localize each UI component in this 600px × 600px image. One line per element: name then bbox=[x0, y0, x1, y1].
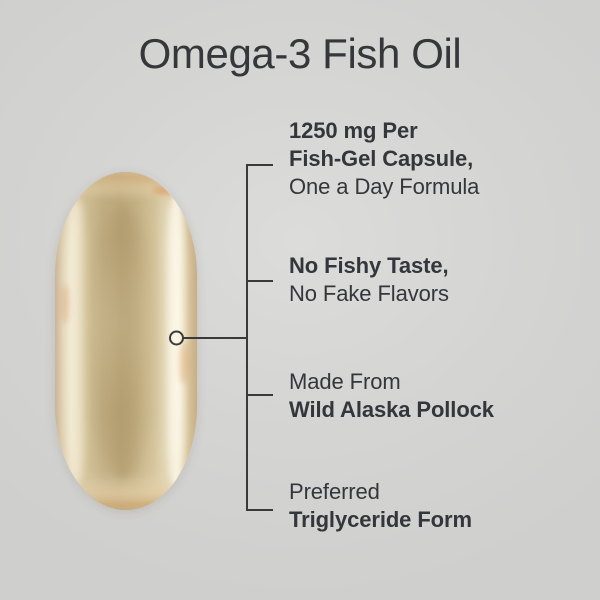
callout-block-taste: No Fishy Taste, No Fake Flavors bbox=[289, 252, 449, 308]
callout-line: 1250 mg Per bbox=[289, 117, 479, 145]
callout-line: Made From bbox=[289, 368, 494, 396]
callout-line: Triglyceride Form bbox=[289, 506, 472, 534]
callout-block-source: Made From Wild Alaska Pollock bbox=[289, 368, 494, 424]
callout-line: No Fishy Taste, bbox=[289, 252, 449, 280]
product-infographic: Omega-3 Fish Oil 1250 mg Per bbox=[0, 0, 600, 600]
callout-block-dosage: 1250 mg Per Fish-Gel Capsule, One a Day … bbox=[289, 117, 479, 201]
callout-line: No Fake Flavors bbox=[289, 280, 449, 308]
page-title: Omega-3 Fish Oil bbox=[0, 33, 600, 75]
callout-line: Preferred bbox=[289, 478, 472, 506]
capsule-fleck bbox=[61, 284, 69, 324]
callout-line: One a Day Formula bbox=[289, 173, 479, 201]
capsule-fleck bbox=[153, 186, 179, 195]
capsule-core-shading bbox=[99, 206, 147, 480]
capsule-body bbox=[55, 172, 197, 510]
callout-block-form: Preferred Triglyceride Form bbox=[289, 478, 472, 534]
callout-line: Fish-Gel Capsule, bbox=[289, 145, 479, 173]
capsule-fleck bbox=[179, 342, 189, 384]
capsule-left-highlight bbox=[63, 198, 89, 484]
callout-line: Wild Alaska Pollock bbox=[289, 396, 494, 424]
capsule-bottom-seam bbox=[71, 478, 181, 508]
fish-oil-softgel-capsule bbox=[52, 170, 198, 512]
